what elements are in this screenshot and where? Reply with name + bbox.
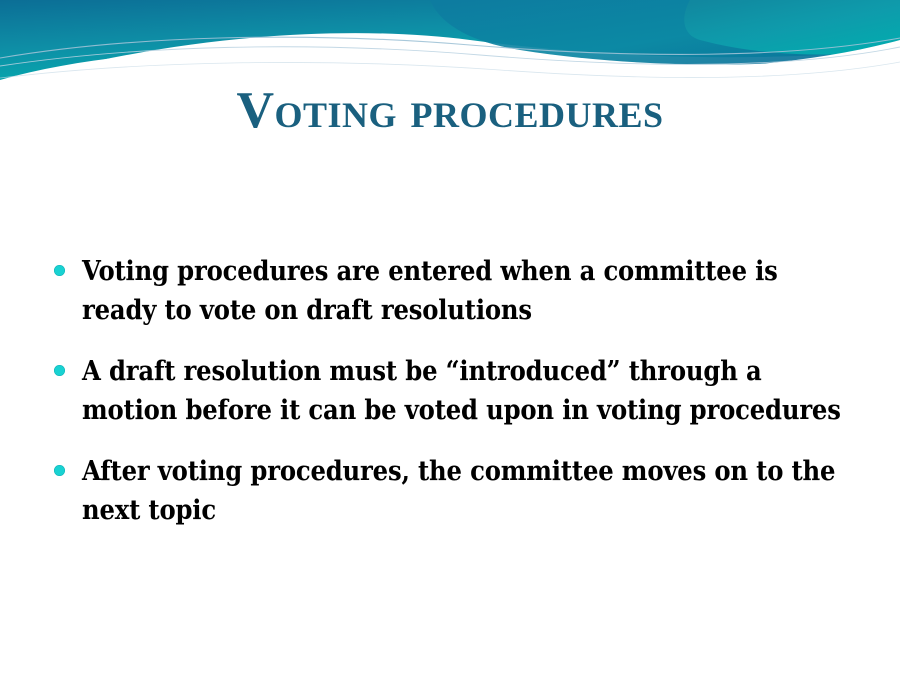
slide-body: Voting procedures are entered when a com…: [44, 252, 856, 530]
bullet-text: Voting procedures are entered when a com…: [82, 252, 855, 330]
wave-banner-graphic: [0, 0, 900, 95]
bullet-dot-icon: [54, 265, 65, 276]
banner-highlight-wave: [684, 0, 900, 55]
banner-hairline-lower: [0, 47, 900, 66]
banner-base-wave: [0, 0, 900, 86]
slide-canvas: Voting procedures Voting procedures are …: [0, 0, 900, 675]
title-container: Voting procedures: [0, 84, 900, 139]
list-item: A draft resolution must be “introduced” …: [44, 352, 856, 430]
bullet-text: A draft resolution must be “introduced” …: [82, 352, 855, 430]
bullet-list: Voting procedures are entered when a com…: [44, 252, 856, 530]
list-item: Voting procedures are entered when a com…: [44, 252, 856, 330]
banner-secondary-wave: [430, 0, 900, 65]
bullet-text: After voting procedures, the committee m…: [82, 452, 855, 530]
top-wave-banner-decoration: [0, 0, 900, 95]
bullet-dot-icon: [54, 465, 65, 476]
banner-hairline-trailing: [0, 62, 900, 78]
bullet-dot-icon: [54, 365, 65, 376]
list-item: After voting procedures, the committee m…: [44, 452, 856, 530]
page-title: Voting procedures: [236, 84, 663, 139]
banner-hairline-upper: [0, 37, 900, 58]
